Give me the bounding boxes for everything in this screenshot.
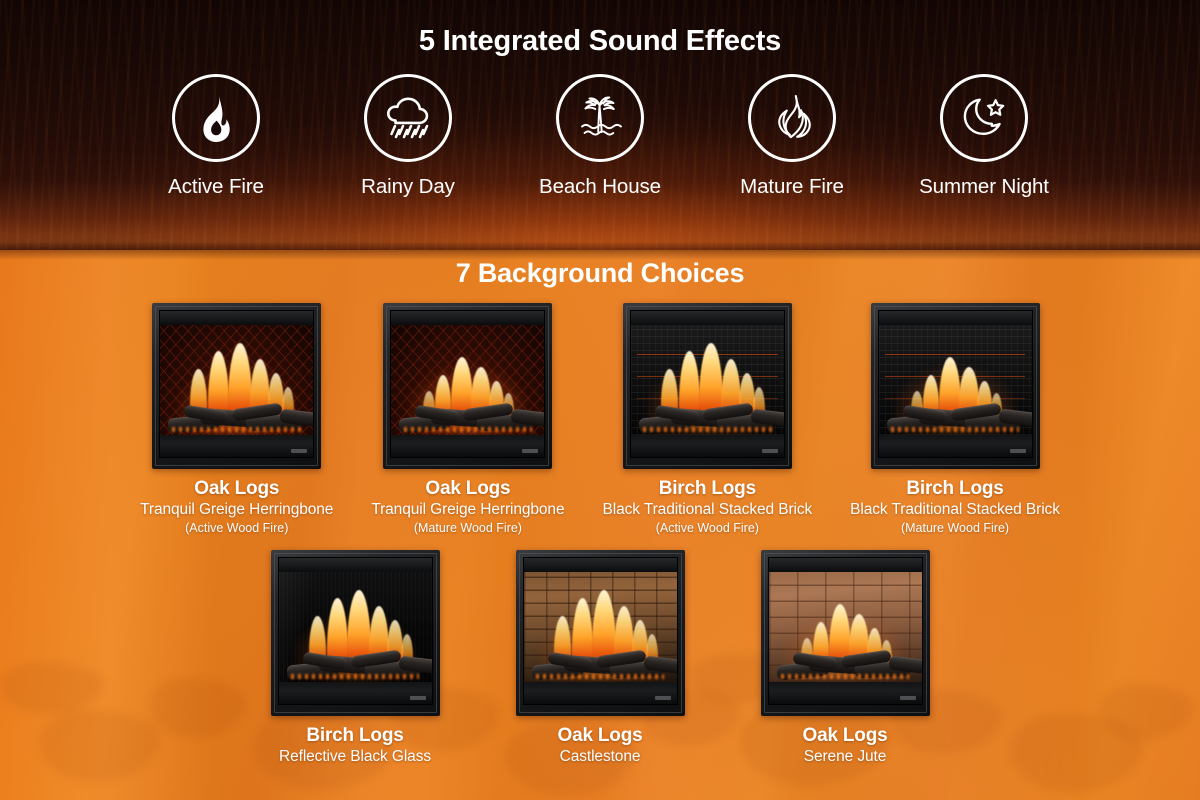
sound-effect-label: Beach House	[539, 175, 661, 199]
background-grid-row-one: Oak LogsTranquil Greige Herringbone(Acti…	[0, 303, 1200, 536]
fireplace-image[interactable]	[271, 550, 440, 716]
fireplace-back-panel	[279, 572, 432, 682]
sound-effects-title: 5 Integrated Sound Effects	[0, 0, 1200, 58]
fireplace-glass	[523, 557, 678, 705]
caption-title: Birch Logs	[279, 725, 431, 747]
fireplace-top-trim	[879, 311, 1032, 325]
sound-effect-rainy-day[interactable]: Rainy Day	[312, 74, 504, 199]
background-choice-caption: Oak LogsCastlestone	[558, 725, 643, 766]
background-choices-section: 7 Background Choices Oak LogsTranquil Gr…	[0, 250, 1200, 800]
caption-subtitle: Serene Jute	[803, 748, 888, 767]
background-choice-caption: Oak LogsTranquil Greige Herringbone(Matu…	[371, 478, 564, 536]
caption-title: Oak Logs	[558, 725, 643, 747]
fireplace-top-trim	[631, 311, 784, 325]
sound-effect-label: Mature Fire	[740, 175, 844, 199]
sound-effect-active-fire[interactable]: Active Fire	[120, 74, 312, 199]
fireplace-glass	[390, 310, 545, 458]
sound-effect-label: Rainy Day	[361, 175, 455, 199]
caption-title: Oak Logs	[371, 478, 564, 500]
fireplace-image[interactable]	[623, 303, 792, 469]
background-choice-card[interactable]: Oak LogsTranquil Greige Herringbone(Matu…	[371, 303, 564, 536]
caption-subtitle: Castlestone	[558, 748, 643, 767]
caption-subtitle: Reflective Black Glass	[279, 748, 431, 767]
sound-effect-label: Active Fire	[168, 175, 264, 199]
background-choice-card[interactable]: Oak LogsTranquil Greige Herringbone(Acti…	[140, 303, 333, 536]
background-choice-caption: Birch LogsReflective Black Glass	[279, 725, 431, 766]
fireplace-back-panel	[879, 325, 1032, 435]
fireplace-bottom-trim	[631, 435, 784, 457]
fireplace-image[interactable]	[152, 303, 321, 469]
fireplace-glass	[878, 310, 1033, 458]
caption-title: Birch Logs	[602, 478, 812, 500]
sound-effects-section: 5 Integrated Sound Effects Active Fire	[0, 0, 1200, 250]
caption-subtitle: Black Traditional Stacked Brick	[602, 501, 812, 520]
fireplace-top-trim	[524, 558, 677, 572]
fireplace-back-panel	[391, 325, 544, 435]
fireplace-bottom-trim	[160, 435, 313, 457]
crescent-moon-star-icon	[940, 74, 1028, 162]
caption-note: (Mature Wood Fire)	[371, 521, 564, 536]
caption-note: (Active Wood Fire)	[140, 521, 333, 536]
caption-note: (Mature Wood Fire)	[850, 521, 1060, 536]
fireplace-bottom-trim	[279, 682, 432, 704]
background-choice-card[interactable]: Oak LogsCastlestone	[516, 550, 685, 766]
background-choice-card[interactable]: Oak LogsSerene Jute	[761, 550, 930, 766]
caption-note: (Active Wood Fire)	[602, 521, 812, 536]
fireplace-bottom-trim	[524, 682, 677, 704]
background-choice-caption: Oak LogsTranquil Greige Herringbone(Acti…	[140, 478, 333, 536]
fireplace-bottom-trim	[769, 682, 922, 704]
fireplace-back-panel	[524, 572, 677, 682]
background-choices-title: 7 Background Choices	[0, 250, 1200, 289]
fireplace-image[interactable]	[516, 550, 685, 716]
fireplace-back-panel	[631, 325, 784, 435]
caption-subtitle: Black Traditional Stacked Brick	[850, 501, 1060, 520]
flame-outline-icon	[748, 74, 836, 162]
fireplace-bottom-trim	[879, 435, 1032, 457]
fireplace-top-trim	[279, 558, 432, 572]
fireplace-top-trim	[391, 311, 544, 325]
sound-effects-icon-row: Active Fire	[0, 74, 1200, 199]
caption-title: Birch Logs	[850, 478, 1060, 500]
caption-subtitle: Tranquil Greige Herringbone	[140, 501, 333, 520]
fireplace-image[interactable]	[871, 303, 1040, 469]
fireplace-back-panel	[769, 572, 922, 682]
background-choice-card[interactable]: Birch LogsBlack Traditional Stacked Bric…	[850, 303, 1060, 536]
background-choice-caption: Oak LogsSerene Jute	[803, 725, 888, 766]
fireplace-bottom-trim	[391, 435, 544, 457]
caption-title: Oak Logs	[140, 478, 333, 500]
fireplace-glass	[630, 310, 785, 458]
sound-effect-label: Summer Night	[919, 175, 1049, 199]
sound-effect-mature-fire[interactable]: Mature Fire	[696, 74, 888, 199]
poster-root: 5 Integrated Sound Effects Active Fire	[0, 0, 1200, 800]
caption-subtitle: Tranquil Greige Herringbone	[371, 501, 564, 520]
fireplace-image[interactable]	[761, 550, 930, 716]
caption-title: Oak Logs	[803, 725, 888, 747]
rain-cloud-icon	[364, 74, 452, 162]
fireplace-glass	[159, 310, 314, 458]
palm-tree-waves-icon	[556, 74, 644, 162]
background-choice-card[interactable]: Birch LogsBlack Traditional Stacked Bric…	[602, 303, 812, 536]
fireplace-image[interactable]	[383, 303, 552, 469]
sound-effect-beach-house[interactable]: Beach House	[504, 74, 696, 199]
background-grid-row-two: Birch LogsReflective Black GlassOak Logs…	[0, 550, 1200, 766]
sound-effect-summer-night[interactable]: Summer Night	[888, 74, 1080, 199]
fireplace-top-trim	[160, 311, 313, 325]
background-choice-card[interactable]: Birch LogsReflective Black Glass	[271, 550, 440, 766]
fireplace-top-trim	[769, 558, 922, 572]
background-choice-caption: Birch LogsBlack Traditional Stacked Bric…	[850, 478, 1060, 536]
fireplace-glass	[768, 557, 923, 705]
flame-filled-icon	[172, 74, 260, 162]
fireplace-back-panel	[160, 325, 313, 435]
fireplace-glass	[278, 557, 433, 705]
background-choice-caption: Birch LogsBlack Traditional Stacked Bric…	[602, 478, 812, 536]
